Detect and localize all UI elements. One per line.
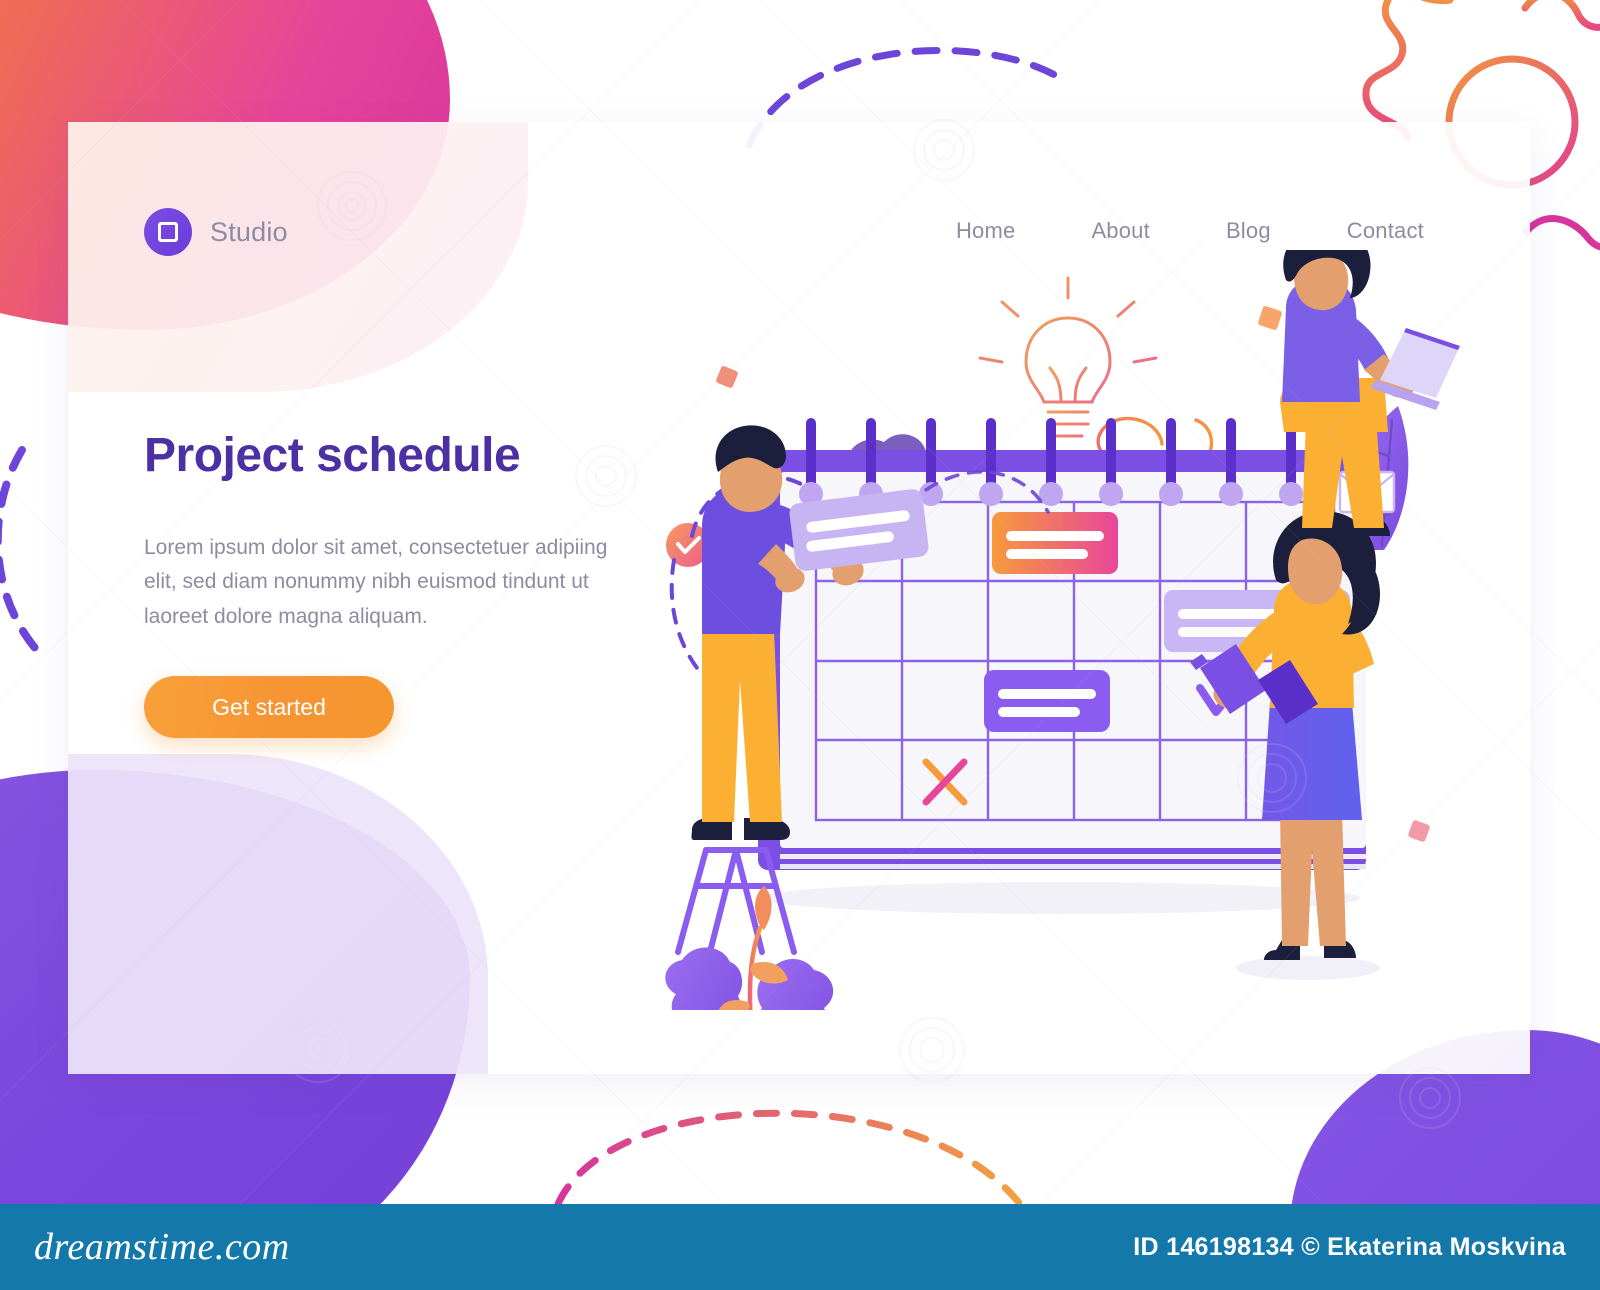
page-title: Project schedule: [144, 430, 614, 483]
event-card-purple[interactable]: [984, 670, 1110, 732]
brand-logo-group[interactable]: Studio: [144, 208, 288, 256]
nav-item-home[interactable]: Home: [956, 218, 1016, 244]
image-credit: ID 146198134 © Ekaterina Moskvina: [1133, 1233, 1566, 1262]
main-nav: Home About Blog Contact: [956, 218, 1424, 244]
hero-body-text: Lorem ipsum dolor sit amet, consectetuer…: [144, 531, 614, 635]
watermark-bar: dreamstime.com ID 146198134 © Ekaterina …: [0, 1204, 1600, 1290]
nav-item-blog[interactable]: Blog: [1226, 218, 1271, 244]
nav-item-contact[interactable]: Contact: [1347, 218, 1424, 244]
confetti-square-pink-2: [1407, 819, 1430, 842]
card-tint-purple: [68, 754, 488, 1074]
page-root: Studio Home About Blog Contact Project s…: [0, 0, 1600, 1290]
get-started-button[interactable]: Get started: [144, 676, 394, 738]
event-card-orange-pink[interactable]: [992, 512, 1118, 574]
confetti-square-pink: [715, 365, 738, 388]
confetti-square-orange: [1257, 305, 1282, 330]
person-with-laptop: [1280, 250, 1460, 538]
dreamstime-logo: dreamstime.com: [34, 1225, 290, 1269]
rounded-square-icon: [144, 208, 192, 256]
card-tint-pink: [68, 122, 528, 392]
calendar-spiral-binding: [799, 418, 1303, 506]
hero-text-block: Project schedule Lorem ipsum dolor sit a…: [144, 430, 614, 635]
nav-item-about[interactable]: About: [1091, 218, 1150, 244]
project-schedule-illustration: [640, 250, 1460, 1010]
brand-name: Studio: [210, 217, 288, 248]
lightbulb-icon: [980, 278, 1156, 436]
